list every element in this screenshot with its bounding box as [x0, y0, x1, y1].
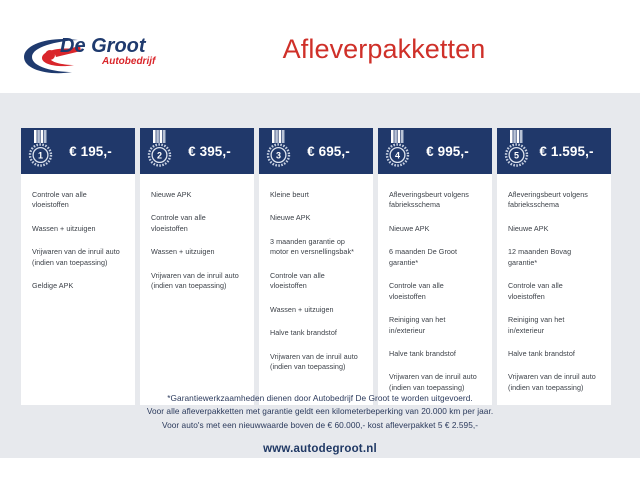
package-item: Reiniging van het in/exterieur — [389, 315, 482, 336]
page-title: Afleverpakketten — [0, 34, 640, 65]
package-card-list: 1 € 195,- Controle van alle vloeistoffen… — [21, 128, 619, 405]
package-item: Controle van alle vloeistoffen — [151, 213, 244, 234]
package-item: Wassen + uitzuigen — [270, 305, 363, 315]
footnotes: *Garantiewerkzaamheden dienen door Autob… — [0, 392, 640, 432]
package-item: Geldige APK — [32, 281, 125, 291]
footnote-line: *Garantiewerkzaamheden dienen door Autob… — [0, 392, 640, 405]
package-item: Vrijwaren van de inruil auto (indien van… — [389, 372, 482, 393]
page-header: De Groot Autobedrijf Afleverpakketten — [0, 0, 640, 93]
package-item: Halve tank brandstof — [270, 328, 363, 338]
package-item: Afleveringsbeurt volgens fabrieksschema — [389, 190, 482, 211]
medal-icon: 2 — [147, 130, 173, 170]
medal-icon: 3 — [266, 130, 292, 170]
package-item: Halve tank brandstof — [508, 349, 601, 359]
package-item: Nieuwe APK — [508, 224, 601, 234]
package-item: 6 maanden De Groot garantie* — [389, 247, 482, 268]
package-item: Controle van alle vloeistoffen — [508, 281, 601, 302]
package-price: € 395,- — [173, 144, 248, 159]
package-item: 3 maanden garantie op motor en versnelli… — [270, 237, 363, 258]
package-card[interactable]: 5 € 1.595,- Afleveringsbeurt volgens fab… — [497, 128, 611, 405]
package-card[interactable]: 2 € 395,- Nieuwe APK Controle van alle v… — [140, 128, 254, 405]
website-link[interactable]: www.autodegroot.nl — [0, 443, 640, 455]
medal-icon: 1 — [28, 130, 54, 170]
medal-rank-number: 2 — [157, 150, 162, 160]
package-item: Reiniging van het in/exterieur — [508, 315, 601, 336]
medal-rank-number: 4 — [395, 150, 400, 160]
package-item: Wassen + uitzuigen — [151, 247, 244, 257]
package-price: € 995,- — [411, 144, 486, 159]
package-item: Nieuwe APK — [270, 213, 363, 223]
package-item: Kleine beurt — [270, 190, 363, 200]
package-item: Halve tank brandstof — [389, 349, 482, 359]
package-card-body: Controle van alle vloeistoffen Wassen + … — [21, 174, 135, 405]
package-price: € 195,- — [54, 144, 129, 159]
medal-rank-number: 5 — [514, 150, 519, 160]
package-card[interactable]: 4 € 995,- Afleveringsbeurt volgens fabri… — [378, 128, 492, 405]
package-item: Controle van alle vloeistoffen — [389, 281, 482, 302]
package-item: Vrijwaren van de inruil auto (indien van… — [508, 372, 601, 393]
package-card[interactable]: 3 € 695,- Kleine beurt Nieuwe APK 3 maan… — [259, 128, 373, 405]
afleverpakketten-page: De Groot Autobedrijf Afleverpakketten — [0, 0, 640, 480]
package-card-header: 4 € 995,- — [378, 128, 492, 174]
footnote-line: Voor auto's met een nieuwwaarde boven de… — [0, 419, 640, 432]
package-card-body: Afleveringsbeurt volgens fabrieksschema … — [497, 174, 611, 405]
medal-rank-number: 1 — [38, 150, 43, 160]
package-card-header: 3 € 695,- — [259, 128, 373, 174]
package-item: Nieuwe APK — [389, 224, 482, 234]
medal-icon: 4 — [385, 130, 411, 170]
footnote-line: Voor alle afleverpakketten met garantie … — [0, 405, 640, 418]
package-item: Wassen + uitzuigen — [32, 224, 125, 234]
package-card-body: Kleine beurt Nieuwe APK 3 maanden garant… — [259, 174, 373, 405]
package-card-header: 1 € 195,- — [21, 128, 135, 174]
package-card-body: Afleveringsbeurt volgens fabrieksschema … — [378, 174, 492, 405]
package-item: Afleveringsbeurt volgens fabrieksschema — [508, 190, 601, 211]
medal-rank-number: 3 — [276, 150, 281, 160]
package-card-header: 2 € 395,- — [140, 128, 254, 174]
package-card-body: Nieuwe APK Controle van alle vloeistoffe… — [140, 174, 254, 405]
package-item: Vrijwaren van de inruil auto (indien van… — [270, 352, 363, 373]
package-price: € 1.595,- — [530, 144, 605, 159]
package-item: 12 maanden Bovag garantie* — [508, 247, 601, 268]
package-price: € 695,- — [292, 144, 367, 159]
medal-icon: 5 — [504, 130, 530, 170]
package-item: Nieuwe APK — [151, 190, 244, 200]
package-item: Vrijwaren van de inruil auto (indien van… — [32, 247, 125, 268]
package-item: Controle van alle vloeistoffen — [270, 271, 363, 292]
package-card[interactable]: 1 € 195,- Controle van alle vloeistoffen… — [21, 128, 135, 405]
package-item: Controle van alle vloeistoffen — [32, 190, 125, 211]
package-card-header: 5 € 1.595,- — [497, 128, 611, 174]
package-item: Vrijwaren van de inruil auto (indien van… — [151, 271, 244, 292]
